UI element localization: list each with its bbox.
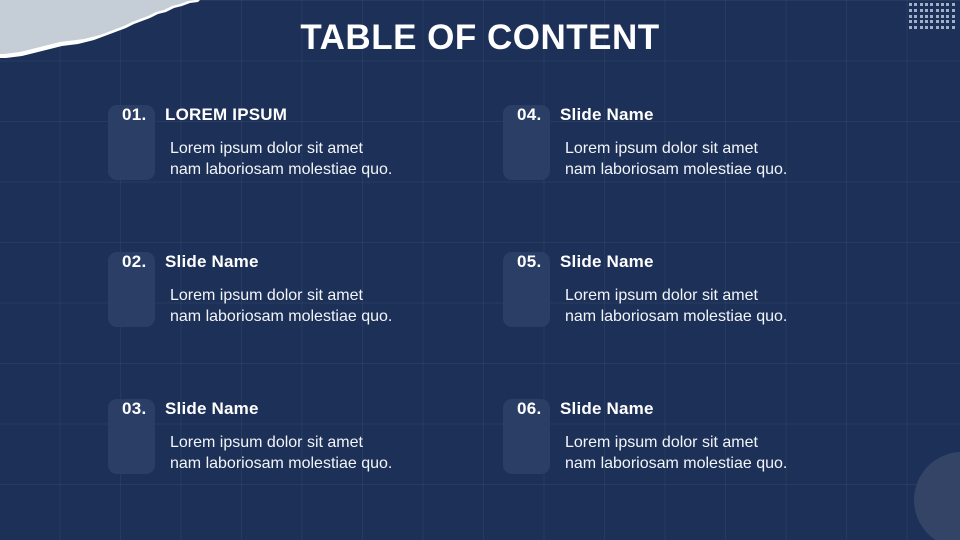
toc-item-number: 01. [122, 105, 165, 125]
toc-item-title: Slide Name [165, 252, 259, 272]
toc-item-title: Slide Name [560, 399, 654, 419]
toc-item-description: Lorem ipsum dolor sit amet nam laboriosa… [565, 432, 878, 474]
toc-item-header: 05. Slide Name [517, 252, 878, 282]
toc-item-01[interactable]: 01. LOREM IPSUM Lorem ipsum dolor sit am… [108, 105, 503, 252]
toc-item-header: 02. Slide Name [122, 252, 503, 282]
table-of-contents-list: 01. LOREM IPSUM Lorem ipsum dolor sit am… [108, 105, 878, 540]
toc-item-header: 03. Slide Name [122, 399, 503, 429]
toc-item-03[interactable]: 03. Slide Name Lorem ipsum dolor sit ame… [108, 399, 503, 540]
toc-item-description: Lorem ipsum dolor sit amet nam laboriosa… [565, 138, 878, 180]
toc-item-02[interactable]: 02. Slide Name Lorem ipsum dolor sit ame… [108, 252, 503, 399]
toc-item-description: Lorem ipsum dolor sit amet nam laboriosa… [170, 138, 503, 180]
toc-item-title: LOREM IPSUM [165, 105, 287, 125]
toc-item-number: 05. [517, 252, 560, 272]
toc-item-title: Slide Name [165, 399, 259, 419]
toc-item-05[interactable]: 05. Slide Name Lorem ipsum dolor sit ame… [503, 252, 878, 399]
toc-item-body: 03. Slide Name Lorem ipsum dolor sit ame… [108, 399, 503, 474]
toc-item-number: 04. [517, 105, 560, 125]
toc-item-body: 05. Slide Name Lorem ipsum dolor sit ame… [503, 252, 878, 327]
page-title: TABLE OF CONTENT [0, 18, 960, 58]
toc-item-description: Lorem ipsum dolor sit amet nam laboriosa… [565, 285, 878, 327]
toc-item-body: 06. Slide Name Lorem ipsum dolor sit ame… [503, 399, 878, 474]
toc-item-number: 06. [517, 399, 560, 419]
toc-item-06[interactable]: 06. Slide Name Lorem ipsum dolor sit ame… [503, 399, 878, 540]
toc-item-body: 01. LOREM IPSUM Lorem ipsum dolor sit am… [108, 105, 503, 180]
toc-item-body: 04. Slide Name Lorem ipsum dolor sit ame… [503, 105, 878, 180]
toc-item-header: 06. Slide Name [517, 399, 878, 429]
toc-item-body: 02. Slide Name Lorem ipsum dolor sit ame… [108, 252, 503, 327]
toc-item-description: Lorem ipsum dolor sit amet nam laboriosa… [170, 432, 503, 474]
toc-item-description: Lorem ipsum dolor sit amet nam laboriosa… [170, 285, 503, 327]
toc-item-number: 03. [122, 399, 165, 419]
toc-item-header: 04. Slide Name [517, 105, 878, 135]
toc-item-title: Slide Name [560, 105, 654, 125]
toc-item-number: 02. [122, 252, 165, 272]
toc-item-04[interactable]: 04. Slide Name Lorem ipsum dolor sit ame… [503, 105, 878, 252]
toc-item-header: 01. LOREM IPSUM [122, 105, 503, 135]
toc-item-title: Slide Name [560, 252, 654, 272]
slide-canvas: TABLE OF CONTENT 01. LOREM IPSUM Lorem i… [0, 0, 960, 540]
corner-circle-decoration [914, 452, 960, 540]
